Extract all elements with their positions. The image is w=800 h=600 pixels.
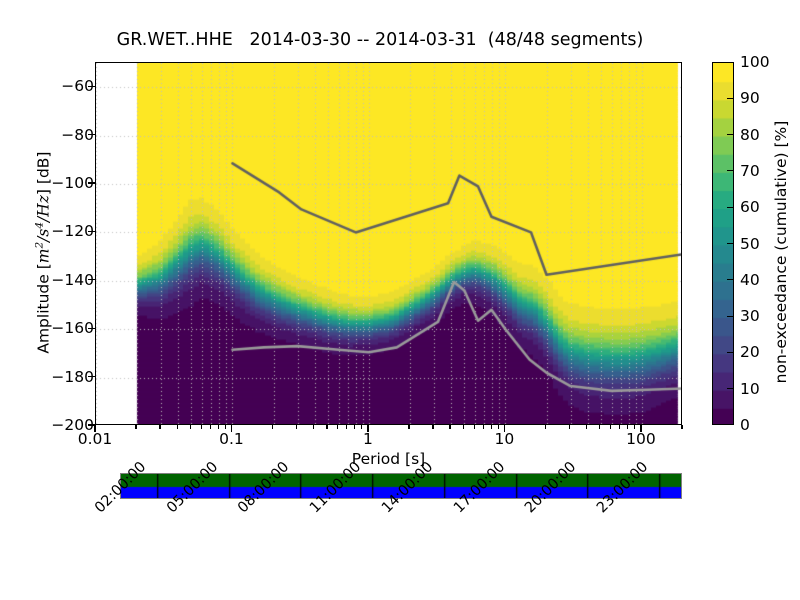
x-axis-tick-mark — [272, 425, 273, 429]
x-axis-tick-mark — [177, 425, 178, 429]
x-axis-tick-mark — [463, 425, 464, 429]
colorbar-tick-mark — [727, 243, 733, 244]
x-axis-tick-mark — [586, 425, 587, 429]
x-axis-label: Period [s] — [95, 450, 682, 468]
ppsd-figure: GR.WET..HHE 2014-03-30 -- 2014-03-31 (48… — [0, 0, 800, 600]
x-axis-tick-mark — [483, 425, 484, 429]
colorbar-tick-mark — [727, 134, 733, 135]
x-axis-tick-mark — [545, 425, 546, 429]
x-axis-tick-mark — [491, 425, 492, 429]
x-axis-tick-mark — [159, 425, 160, 429]
x-axis-tick-mark — [135, 425, 136, 429]
x-axis-tick-mark — [354, 425, 355, 429]
x-axis-tick-mark — [94, 425, 95, 432]
x-axis-tick-mark — [681, 425, 682, 429]
y-axis-tick-mark — [88, 231, 95, 232]
y-axis-tick-mark — [88, 279, 95, 280]
y-axis-tick-label: −100 — [0, 174, 94, 192]
y-axis-tick-mark — [88, 182, 95, 183]
colorbar-tick-mark — [727, 388, 733, 389]
x-axis-tick-mark — [326, 425, 327, 429]
x-axis-tick-mark — [504, 425, 505, 432]
x-axis-tick-mark — [210, 425, 211, 429]
x-axis-tick-mark — [640, 425, 641, 432]
x-axis-tick-mark — [337, 425, 338, 429]
x-axis-tick-mark — [619, 425, 620, 429]
colorbar-tick-label: 30 — [740, 307, 760, 325]
colorbar-tick-mark — [727, 352, 733, 353]
x-axis-tick-mark — [201, 425, 202, 429]
x-axis-tick-mark — [190, 425, 191, 429]
x-axis-tick-label: 1 — [363, 430, 373, 448]
y-axis-tick-mark — [88, 86, 95, 87]
colorbar-tick-label: 60 — [740, 198, 760, 216]
x-axis-tick-mark — [634, 425, 635, 429]
y-axis-tick-label: −160 — [0, 319, 94, 337]
x-axis-tick-label: 100 — [626, 430, 656, 448]
colorbar-tick-label: 80 — [740, 126, 760, 144]
ppsd-plot-area[interactable] — [95, 62, 682, 425]
x-axis-tick-mark — [627, 425, 628, 429]
x-axis-tick-mark — [346, 425, 347, 429]
x-axis-tick-mark — [474, 425, 475, 429]
y-axis-tick-mark — [88, 328, 95, 329]
x-axis-tick-mark — [498, 425, 499, 429]
y-axis-tick-label: −80 — [0, 126, 94, 144]
colorbar-label: non-exceedance (cumulative) [%] — [772, 87, 790, 417]
colorbar-tick-mark — [727, 316, 733, 317]
x-axis-tick-label: 0.1 — [219, 430, 244, 448]
x-axis-tick-mark — [361, 425, 362, 429]
x-axis-tick-mark — [610, 425, 611, 429]
x-axis-tick-mark — [225, 425, 226, 429]
y-axis-tick-mark — [88, 134, 95, 135]
colorbar-tick-mark — [727, 170, 733, 171]
colorbar-tick-label: 90 — [740, 89, 760, 107]
y-axis-tick-mark — [88, 376, 95, 377]
y-axis-tick-label: −60 — [0, 77, 94, 95]
ppsd-density-heatmap — [96, 63, 682, 425]
colorbar-tick-label: 70 — [740, 162, 760, 180]
x-axis-tick-mark — [313, 425, 314, 429]
colorbar-tick-label: 20 — [740, 343, 760, 361]
figure-title: GR.WET..HHE 2014-03-30 -- 2014-03-31 (48… — [0, 30, 760, 50]
colorbar-tick-label: 10 — [740, 380, 760, 398]
y-axis-tick-label: −180 — [0, 368, 94, 386]
colorbar-tick-mark — [727, 279, 733, 280]
x-axis-tick-mark — [218, 425, 219, 429]
colorbar-tick-label: 100 — [740, 53, 770, 71]
y-axis-tick-label: −120 — [0, 222, 94, 240]
colorbar-tick-label: 40 — [740, 271, 760, 289]
colorbar-tick-label: 50 — [740, 235, 760, 253]
x-axis-tick-mark — [408, 425, 409, 429]
colorbar-tick-mark — [727, 207, 733, 208]
colorbar-tick-mark — [727, 98, 733, 99]
x-axis-tick-mark — [296, 425, 297, 429]
x-axis-tick-mark — [432, 425, 433, 429]
y-axis-tick-label: −140 — [0, 271, 94, 289]
x-axis-tick-mark — [569, 425, 570, 429]
x-axis-tick-mark — [599, 425, 600, 429]
x-axis-tick-mark — [367, 425, 368, 432]
x-axis-tick-mark — [231, 425, 232, 432]
x-axis-tick-label: 10 — [495, 430, 515, 448]
colorbar-tick-label: 0 — [740, 416, 750, 434]
x-axis-tick-mark — [449, 425, 450, 429]
x-axis-tick-label: 0.01 — [78, 430, 113, 448]
